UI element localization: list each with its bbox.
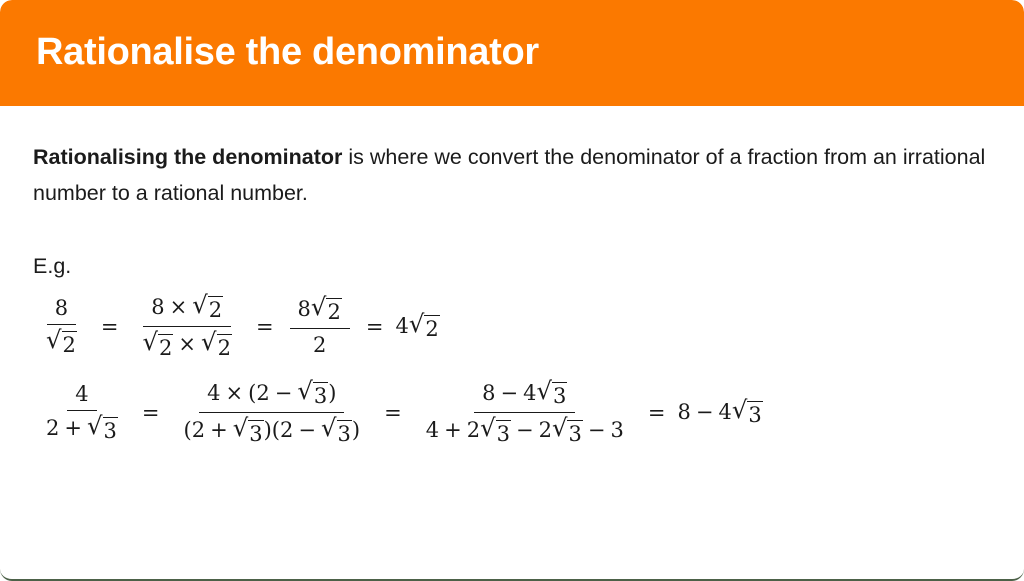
sqrt-icon: √ 3	[233, 417, 264, 445]
fraction-8timesroot2-over-root2timesroot2: 8 × √ 2 √ 2 × √ 2	[135, 292, 240, 362]
times-sign: ×	[173, 332, 201, 356]
equation-1: 8 √ 2 = 8 × √ 2	[34, 292, 440, 362]
equals-sign-1: =	[130, 401, 172, 425]
minus-sign: −	[583, 418, 611, 442]
minus-sign: −	[496, 381, 524, 405]
fraction-8-over-root2: 8 √ 2	[38, 294, 85, 359]
sqrt-icon: √ 3	[87, 415, 118, 443]
intro-lead: Rationalising the denominator	[33, 145, 342, 169]
slide: Rationalise the denominator Rationalisin…	[0, 0, 1024, 581]
numerator: 4 × ( 2 − √ 3 )	[199, 378, 344, 413]
minus-sign: −	[293, 418, 321, 442]
times-sign: ×	[165, 295, 193, 319]
fraction-8root2-over-2: 8 √ 2 2	[290, 294, 350, 359]
equals-sign-1: =	[89, 315, 131, 339]
minus-sign: −	[511, 418, 539, 442]
minus-sign: −	[270, 381, 298, 405]
plus-sign: +	[439, 418, 467, 442]
intro-paragraph: Rationalising the denominator is where w…	[33, 139, 995, 211]
sqrt-icon: √ 3	[537, 380, 568, 408]
minus-sign: −	[691, 400, 719, 424]
fraction-4-over-2plusroot3: 4 2 + √ 3	[38, 380, 126, 445]
equation-2: 4 2 + √ 3 = 4 × ( 2 −	[34, 378, 763, 448]
slide-body: Rationalising the denominator is where w…	[0, 106, 1024, 581]
equals-sign-3: =	[636, 401, 678, 425]
plus-sign: +	[59, 416, 87, 440]
result-8minus4root3: 8−4√3	[677, 399, 762, 427]
sqrt-icon: √2	[409, 313, 440, 341]
equals-sign-2: =	[244, 315, 286, 339]
denominator: √ 2 × √ 2	[135, 327, 240, 361]
denominator: 4 + 2 √ 3 − 2 √ 3 − 3	[418, 413, 632, 447]
sqrt-icon: √ 3	[297, 380, 328, 408]
denominator: ( 2 + √ 3 ) ( 2 − √ 3 )	[176, 413, 369, 447]
example-label: E.g.	[33, 251, 71, 281]
fraction-expanded: 8 − 4 √ 3 4 + 2 √ 3 −	[418, 378, 632, 448]
sqrt-icon: √ 3	[321, 417, 352, 445]
numerator: 4	[67, 380, 96, 411]
plus-sign: +	[205, 418, 233, 442]
sqrt-icon: √ 2	[201, 331, 232, 359]
numerator: 8	[47, 294, 76, 325]
sqrt-icon: √ 2	[143, 331, 174, 359]
slide-header: Rationalise the denominator	[0, 0, 1024, 106]
sqrt-icon: √ 3	[552, 417, 583, 445]
numerator: 8 − 4 √ 3	[474, 378, 575, 413]
sqrt-icon: √ 2	[46, 329, 77, 357]
times-sign: ×	[221, 381, 249, 405]
fraction-conjugate-expansion: 4 × ( 2 − √ 3 ) ( 2 + √	[176, 378, 369, 448]
numerator: 8 × √ 2	[143, 292, 231, 327]
sqrt-icon: √ 2	[192, 294, 223, 322]
sqrt-icon: √3	[732, 399, 763, 427]
result-4root2: 4√2	[395, 313, 439, 341]
denominator: 2	[305, 329, 334, 359]
sqrt-icon: √ 2	[311, 296, 342, 324]
equals-sign-2: =	[372, 401, 414, 425]
denominator: √ 2	[38, 325, 85, 359]
numerator: 8 √ 2	[290, 294, 350, 329]
page-title: Rationalise the denominator	[36, 28, 539, 76]
equals-sign-3: =	[354, 315, 396, 339]
denominator: 2 + √ 3	[38, 411, 126, 445]
sqrt-icon: √ 3	[480, 417, 511, 445]
